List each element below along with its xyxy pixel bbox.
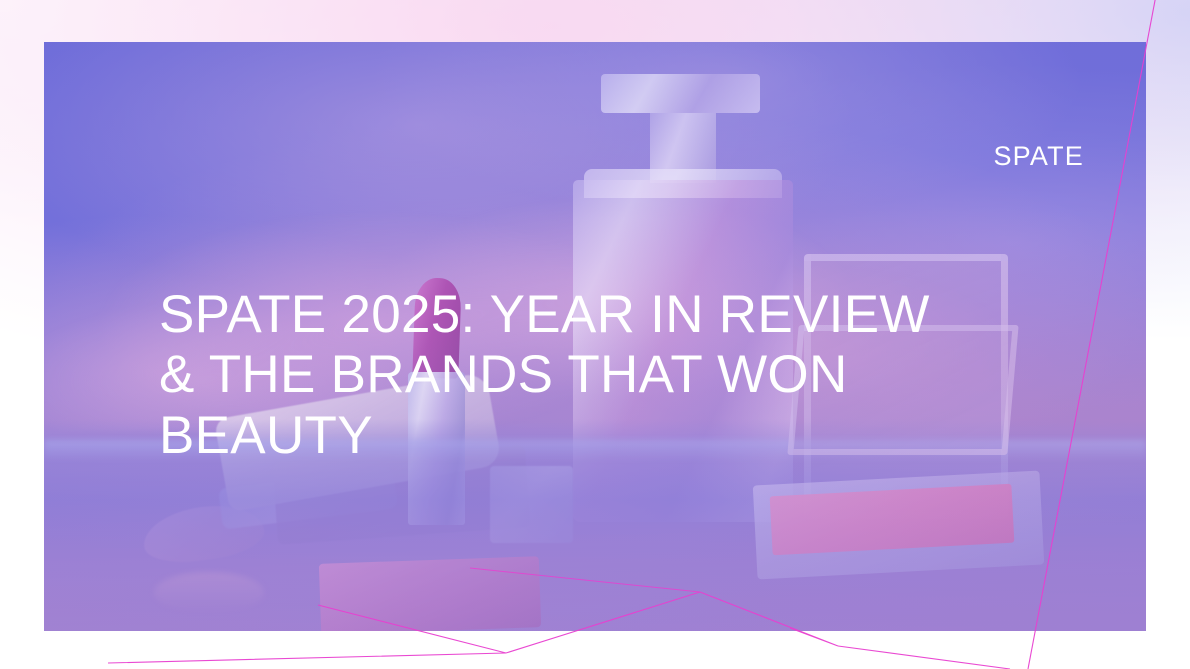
spate-brand-logo: SPATE: [993, 143, 1084, 170]
presentation-slide: SPATE SPATE 2025: Year in Review & the B…: [0, 0, 1190, 669]
slide-title: SPATE 2025: Year in Review & the Brands …: [159, 285, 979, 466]
hero-image-panel: SPATE SPATE 2025: Year in Review & the B…: [44, 42, 1146, 631]
accent-line-bottom-right-tail: [838, 646, 1010, 669]
